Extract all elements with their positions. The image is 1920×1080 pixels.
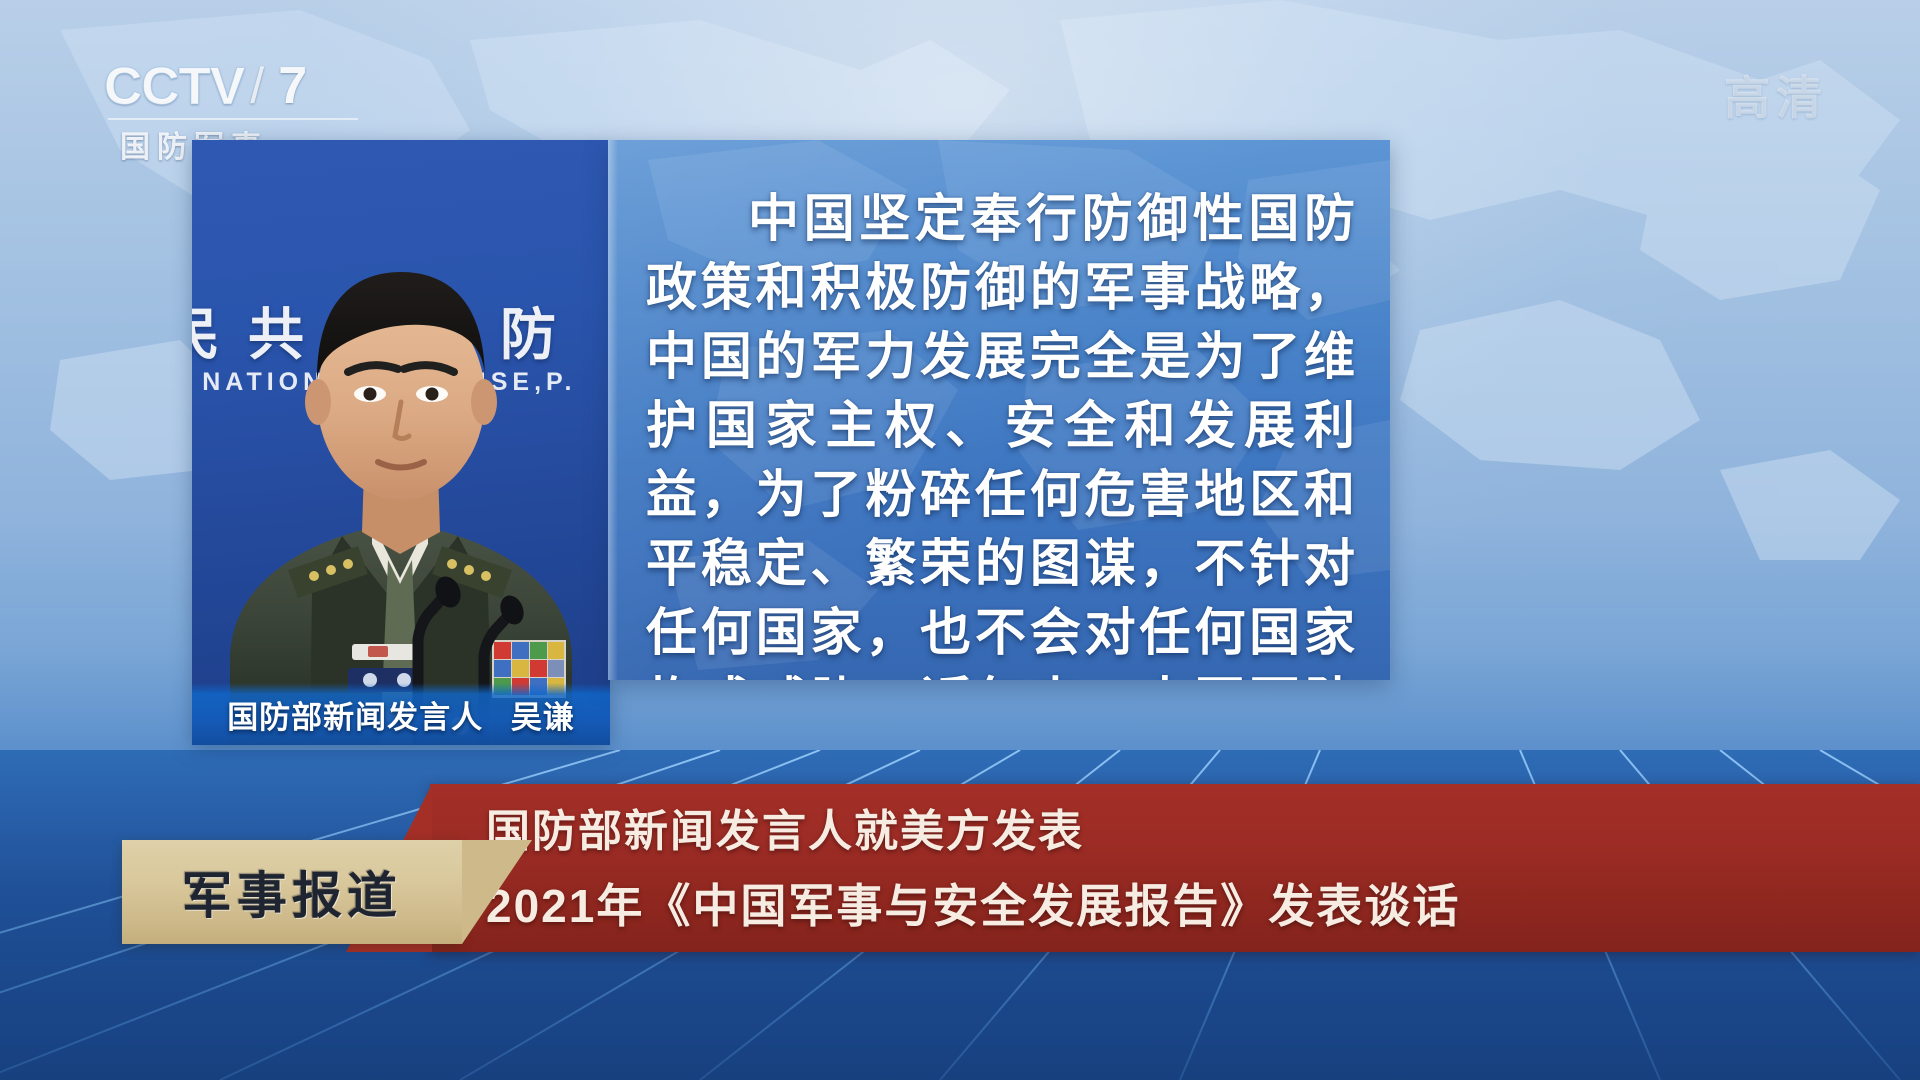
broadcast-screen: CCTV / 7 国防军事 高清 民共和国防 F NATIONAL DEFENS… xyxy=(0,0,1920,1080)
quote-board: 中国坚定奉行防御性国防政策和积极防御的军事战略，中国的军力发展完全是为了维护国家… xyxy=(608,140,1390,680)
headline-text-group: 国防部新闻发言人就美方发表 2021年《中国军事与安全发展报告》发表谈话 xyxy=(486,796,1460,944)
speaker-photo-panel: 民共和国防 F NATIONAL DEFENSE,P. xyxy=(192,140,610,745)
headline-line-2: 2021年《中国军事与安全发展报告》发表谈话 xyxy=(486,868,1460,944)
hd-quality-mark: 高清 xyxy=(1724,62,1828,128)
program-name-text: 军事报道 xyxy=(182,856,402,928)
headline-banner: 国防部新闻发言人就美方发表 2021年《中国军事与安全发展报告》发表谈话 xyxy=(430,784,1920,952)
speaker-name-row: 国防部新闻发言人 吴谦 xyxy=(227,692,575,737)
quote-text: 中国坚定奉行防御性国防政策和积极防御的军事战略，中国的军力发展完全是为了维护国家… xyxy=(608,140,1390,680)
speaker-name: 吴谦 xyxy=(511,700,575,735)
headline-line-1: 国防部新闻发言人就美方发表 xyxy=(486,796,1460,868)
program-name-badge: 军事报道 xyxy=(122,840,462,944)
channel-logo-cctv-text: CCTV xyxy=(104,60,244,113)
channel-logo-number: 7 xyxy=(266,56,319,116)
speaker-name-bar: 国防部新闻发言人 吴谦 xyxy=(192,683,610,745)
lower-third: 国防部新闻发言人就美方发表 2021年《中国军事与安全发展报告》发表谈话 军事报… xyxy=(0,780,1920,1080)
channel-logo-slash-icon: / xyxy=(250,57,264,115)
speaker-title: 国防部新闻发言人 xyxy=(227,700,483,735)
channel-logo-divider xyxy=(108,118,358,120)
speaker-portrait xyxy=(192,140,610,745)
